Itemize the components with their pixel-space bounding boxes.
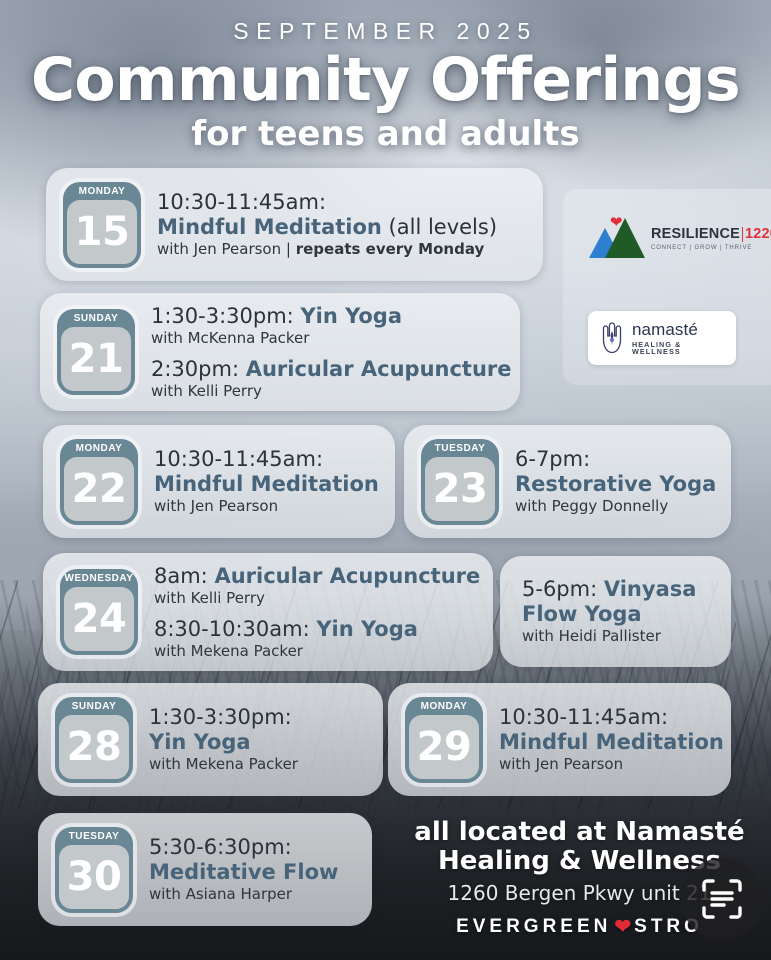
event-card-24[interactable]: WEDNESDAY 24 8am: Auricular Acupuncture …	[43, 553, 493, 671]
repeat-note: repeats every Monday	[296, 240, 485, 258]
event-details: 5-6pm: Vinyasa Flow Yoga with Heidi Pall…	[500, 577, 731, 645]
event-card-30[interactable]: TUESDAY 30 5:30-6:30pm: Meditative Flow …	[38, 813, 372, 926]
event-instructor: with Kelli Perry	[154, 590, 481, 607]
event-class: Yin Yoga	[316, 617, 418, 641]
event-time: 1:30-3:30pm:	[149, 705, 292, 729]
event-time: 6-7pm:	[515, 447, 590, 471]
event-instructor: with Asiana Harper	[149, 886, 360, 903]
badge-weekday: WEDNESDAY	[64, 572, 133, 586]
resilience-tagline: CONNECT | GROW | THRIVE	[651, 245, 771, 251]
event-line: 6-7pm:	[515, 447, 719, 472]
badge-date: 30	[67, 857, 122, 897]
event-time: 5:30-6:30pm:	[149, 835, 292, 859]
instructor-name: with Peggy Donnelly	[515, 497, 668, 515]
badge-date: 23	[433, 469, 488, 509]
badge-weekday: MONDAY	[79, 185, 126, 199]
event-card-29[interactable]: MONDAY 29 10:30-11:45am: Mindful Meditat…	[388, 683, 731, 796]
event-line: 5-6pm: Vinyasa	[522, 577, 719, 602]
mountain-heart-icon: ❤	[589, 216, 645, 262]
event-instructor: with Jen Pearson	[154, 498, 383, 515]
event-instructor: with Mekena Packer	[149, 756, 371, 773]
flyer-poster: SEPTEMBER 2025 Community Offerings for t…	[0, 0, 771, 960]
event-time: 1:30-3:30pm:	[151, 304, 300, 328]
event-line: Mindful Meditation (all levels)	[157, 215, 531, 240]
page-subtitle: for teens and adults	[0, 115, 771, 153]
date-badge: TUESDAY 30	[55, 827, 133, 913]
event-line: 2:30pm: Auricular Acupuncture	[151, 357, 512, 382]
event-line: 5:30-6:30pm:	[149, 835, 360, 860]
page-title: Community Offerings	[0, 49, 771, 111]
event-line: Mindful Meditation	[499, 730, 724, 755]
event-line: Flow Yoga	[522, 602, 719, 627]
event-line: 8:30-10:30am: Yin Yoga	[154, 617, 481, 642]
event-class: Yin Yoga	[149, 730, 251, 754]
event-line: 8am: Auricular Acupuncture	[154, 564, 481, 589]
event-details: 6-7pm: Restorative Yoga with Peggy Donne…	[499, 447, 731, 515]
badge-date-panel: 23	[425, 457, 495, 521]
event-details: 8am: Auricular Acupuncture with Kelli Pe…	[138, 564, 493, 661]
event-time: 10:30-11:45am:	[499, 705, 668, 729]
event-line: Restorative Yoga	[515, 472, 719, 497]
badge-date: 29	[417, 727, 472, 767]
event-class: Yin Yoga	[300, 304, 402, 328]
month-kicker: SEPTEMBER 2025	[0, 18, 771, 45]
tagline-left: EVERGREEN	[456, 916, 611, 938]
resilience1220-logo: ❤ RESILIENCE 1220 CONNECT | GROW | THRIV…	[589, 213, 749, 265]
event-line: 1:30-3:30pm: Yin Yoga	[151, 304, 512, 329]
date-badge: WEDNESDAY 24	[60, 569, 138, 655]
badge-date-panel: 29	[409, 715, 479, 779]
event-card-21[interactable]: SUNDAY 21 1:30-3:30pm: Yin Yoga with McK…	[40, 293, 520, 411]
location-line-1: all located at Namasté	[388, 818, 771, 847]
namaste-subtitle: HEALING & WELLNESS	[632, 341, 727, 355]
event-details: 10:30-11:45am: Mindful Meditation with J…	[138, 447, 395, 515]
instructor-name: with Kelli Perry	[154, 589, 265, 607]
event-class: Mindful Meditation	[154, 472, 379, 496]
badge-weekday: TUESDAY	[435, 442, 486, 456]
instructor-name: with Mekena Packer	[149, 755, 298, 773]
namaste-logo-text: namasté HEALING & WELLNESS	[632, 321, 727, 355]
date-badge: MONDAY 22	[60, 439, 138, 525]
event-time: 2:30pm:	[151, 357, 246, 381]
heart-icon: ❤	[614, 914, 631, 939]
event-instructor: with Heidi Pallister	[522, 628, 719, 645]
event-class: Restorative Yoga	[515, 472, 716, 496]
event-details: 5:30-6:30pm: Meditative Flow with Asiana…	[133, 835, 372, 903]
event-class: Auricular Acupuncture	[246, 357, 512, 381]
date-badge: MONDAY 15	[63, 182, 141, 268]
event-class: Auricular Acupuncture	[214, 564, 480, 588]
event-line: 10:30-11:45am:	[154, 447, 383, 472]
instructor-name: with Jen Pearson	[154, 497, 278, 515]
event-card-23[interactable]: TUESDAY 23 6-7pm: Restorative Yoga with …	[404, 425, 731, 538]
badge-date-panel: 22	[64, 457, 134, 521]
event-instructor: with Jen Pearson | repeats every Monday	[157, 241, 531, 258]
badge-date: 15	[75, 212, 130, 252]
event-time: 8am:	[154, 564, 214, 588]
event-card-vinyasa[interactable]: 5-6pm: Vinyasa Flow Yoga with Heidi Pall…	[500, 556, 731, 667]
instructor-name: with Asiana Harper	[149, 885, 292, 903]
instructor-name: with McKenna Packer	[151, 329, 309, 347]
event-line: 10:30-11:45am:	[157, 190, 531, 215]
event-line: Yin Yoga	[149, 730, 371, 755]
instructor-name: with Mekena Packer	[154, 642, 303, 660]
resilience-name: RESILIENCE	[651, 227, 740, 242]
event-details: 10:30-11:45am: Mindful Meditation with J…	[483, 705, 731, 773]
hamsa-hand-icon	[597, 320, 627, 356]
event-card-28[interactable]: SUNDAY 28 1:30-3:30pm: Yin Yoga with Mek…	[38, 683, 383, 796]
event-class: Mindful Meditation	[499, 730, 724, 754]
instructor-name: with Jen Pearson |	[157, 240, 296, 258]
badge-date-panel: 24	[64, 587, 134, 651]
date-badge: SUNDAY 21	[57, 309, 135, 395]
badge-date: 24	[72, 599, 127, 639]
badge-weekday: SUNDAY	[74, 312, 119, 326]
instructor-name: with Kelli Perry	[151, 382, 262, 400]
namaste-name: namasté	[632, 321, 727, 338]
badge-date: 22	[72, 469, 127, 509]
badge-date-panel: 28	[59, 715, 129, 779]
event-line: Mindful Meditation	[154, 472, 383, 497]
event-details: 1:30-3:30pm: Yin Yoga with Mekena Packer	[133, 705, 383, 773]
event-time: 10:30-11:45am:	[157, 190, 326, 214]
event-class: Mindful Meditation	[157, 215, 382, 239]
poster-header: SEPTEMBER 2025 Community Offerings for t…	[0, 0, 771, 153]
resilience-logo-text: RESILIENCE 1220 CONNECT | GROW | THRIVE	[651, 227, 771, 251]
event-instructor: with McKenna Packer	[151, 330, 512, 347]
event-instructor: with Mekena Packer	[154, 643, 481, 660]
event-line: Meditative Flow	[149, 860, 360, 885]
badge-date-panel: 21	[61, 327, 131, 391]
event-class: Vinyasa	[604, 577, 697, 601]
event-time: 10:30-11:45am:	[154, 447, 323, 471]
instructor-name: with Heidi Pallister	[522, 627, 661, 645]
event-class: Flow Yoga	[522, 602, 642, 626]
event-card-15[interactable]: MONDAY 15 10:30-11:45am: Mindful Meditat…	[46, 168, 543, 281]
badge-weekday: TUESDAY	[69, 830, 120, 844]
live-text-button[interactable]	[681, 858, 763, 940]
live-text-scan-icon	[700, 877, 744, 921]
event-card-22[interactable]: MONDAY 22 10:30-11:45am: Mindful Meditat…	[43, 425, 395, 538]
date-badge: SUNDAY 28	[55, 697, 133, 783]
instructor-name: with Jen Pearson	[499, 755, 623, 773]
event-details: 1:30-3:30pm: Yin Yoga with McKenna Packe…	[135, 304, 520, 401]
event-instructor: with Jen Pearson	[499, 756, 724, 773]
event-instructor: with Kelli Perry	[151, 383, 512, 400]
event-line: 1:30-3:30pm:	[149, 705, 371, 730]
event-details: 10:30-11:45am: Mindful Meditation (all l…	[141, 190, 543, 258]
event-instructor: with Peggy Donnelly	[515, 498, 719, 515]
date-badge: MONDAY 29	[405, 697, 483, 783]
event-time: 8:30-10:30am:	[154, 617, 316, 641]
badge-date-panel: 30	[59, 845, 129, 909]
resilience-number: 1220	[742, 227, 771, 242]
badge-weekday: SUNDAY	[72, 700, 117, 714]
badge-date: 21	[69, 339, 124, 379]
event-line: 10:30-11:45am:	[499, 705, 724, 730]
event-time: 5-6pm:	[522, 577, 604, 601]
badge-weekday: MONDAY	[421, 700, 468, 714]
badge-date: 28	[67, 727, 122, 767]
badge-weekday: MONDAY	[76, 442, 123, 456]
event-class-note: (all levels)	[382, 215, 497, 239]
date-badge: TUESDAY 23	[421, 439, 499, 525]
namaste-logo: namasté HEALING & WELLNESS	[588, 311, 736, 365]
green-peak-shape	[605, 218, 645, 258]
event-class: Meditative Flow	[149, 860, 338, 884]
badge-date-panel: 15	[67, 200, 137, 264]
